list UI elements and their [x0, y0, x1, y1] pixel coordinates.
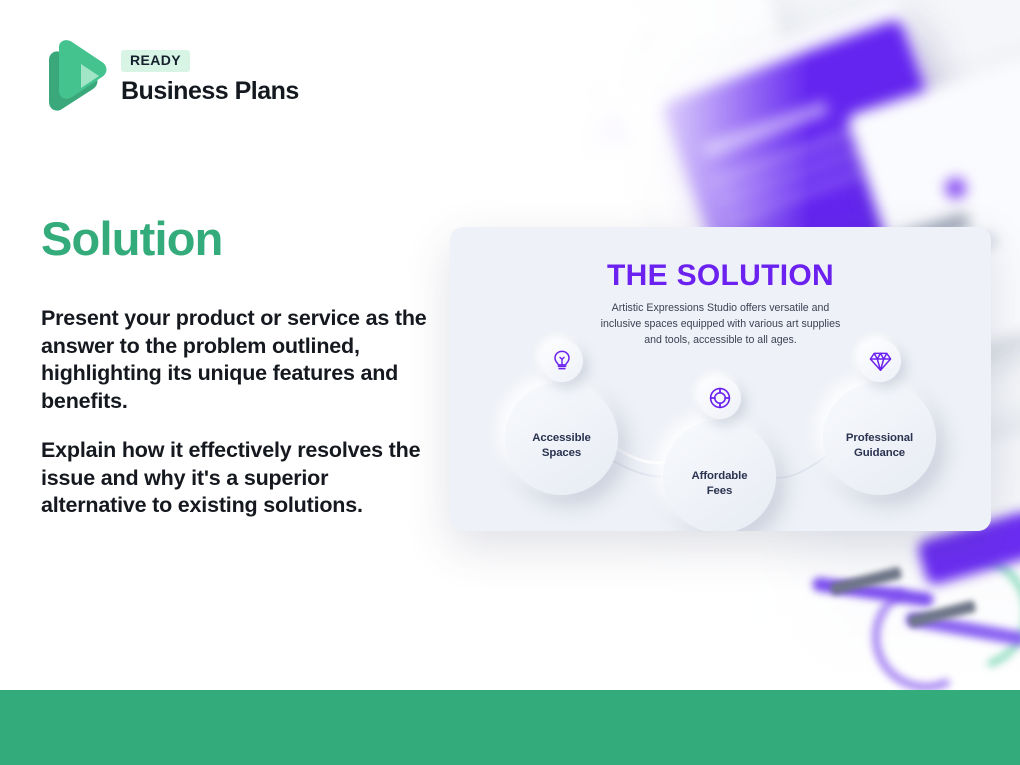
play-triangle-logo-icon	[41, 40, 107, 114]
feature-label-2: Affordable Fees	[692, 455, 748, 498]
feature-label-1-line2: Spaces	[542, 447, 581, 459]
slide-canvas: READY Business Plans Solution Present yo…	[0, 0, 1020, 765]
donut-chart-icon-bubble	[699, 377, 741, 419]
solution-preview-card[interactable]: THE SOLUTION Artistic Expressions Studio…	[450, 227, 991, 531]
body-paragraph-2: Explain how it effectively resolves the …	[41, 437, 433, 520]
diamond-icon-bubble	[859, 340, 901, 382]
body-copy: Present your product or service as the a…	[41, 305, 433, 520]
bg-dot-purple	[943, 176, 968, 201]
feature-label-3-line1: Professional	[846, 432, 913, 444]
ready-badge: READY	[121, 50, 190, 72]
feature-label-1: Accessible Spaces	[532, 417, 591, 460]
brand-logo[interactable]: READY Business Plans	[41, 40, 299, 114]
brand-text-block: READY Business Plans	[121, 50, 299, 105]
feature-circle-accessible-spaces[interactable]: Accessible Spaces	[505, 382, 618, 495]
lightbulb-icon-bubble	[541, 340, 583, 382]
feature-label-3: Professional Guidance	[846, 417, 913, 460]
lightbulb-icon	[552, 350, 572, 372]
footer-bar	[0, 690, 1020, 765]
feature-label-3-line2: Guidance	[854, 447, 905, 459]
body-paragraph-1: Present your product or service as the a…	[41, 305, 433, 415]
donut-chart-icon	[709, 387, 731, 409]
page-title: Solution	[41, 214, 223, 263]
feature-circle-professional-guidance[interactable]: Professional Guidance	[823, 382, 936, 495]
diamond-icon	[869, 351, 892, 372]
brand-name: Business Plans	[121, 78, 299, 104]
feature-label-2-line1: Affordable	[692, 470, 748, 482]
feature-label-2-line2: Fees	[707, 485, 733, 497]
feature-circle-affordable-fees[interactable]: Affordable Fees	[663, 420, 776, 531]
feature-label-1-line1: Accessible	[532, 432, 591, 444]
